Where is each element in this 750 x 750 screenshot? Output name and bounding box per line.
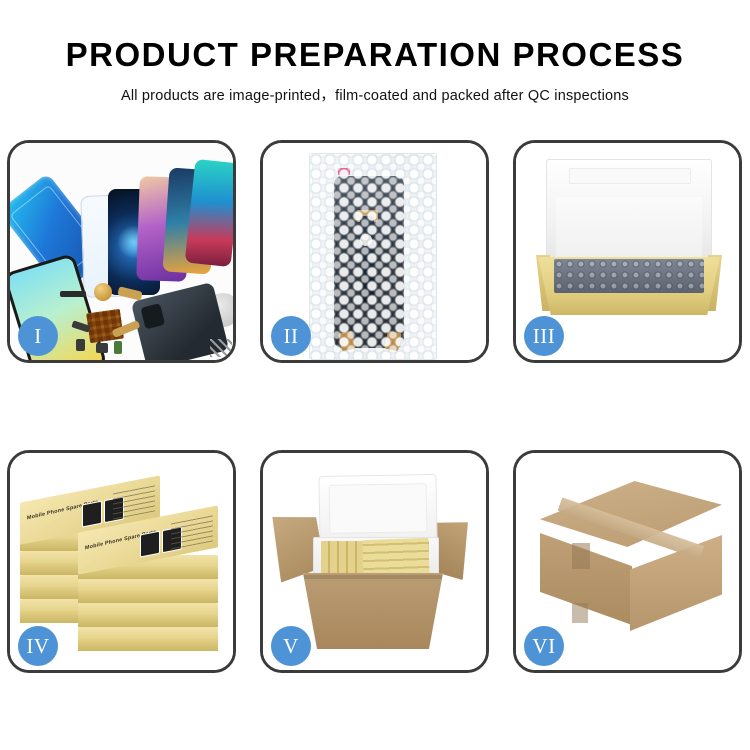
- carton-tab: [572, 603, 588, 623]
- bubble-texture: [310, 154, 436, 359]
- process-step-card-3: III: [513, 140, 742, 363]
- screen-thumb-icon: [82, 501, 102, 528]
- step-badge-6: VI: [524, 626, 564, 666]
- process-step-card-1: I: [7, 140, 236, 363]
- carton-tab: [572, 543, 590, 569]
- page-subtitle: All products are image-printed，film-coat…: [0, 84, 750, 105]
- stacked-box: [78, 579, 218, 603]
- process-step-card-5: V: [260, 450, 489, 673]
- speaker-module-icon: [94, 283, 112, 301]
- lid-crease: [569, 168, 691, 184]
- step-badge-1: I: [18, 316, 58, 356]
- spec-lines: [171, 513, 213, 549]
- step-badge-2: II: [271, 316, 311, 356]
- screws-icon: [210, 339, 232, 357]
- yellow-boxes-inside-icon: [362, 538, 429, 576]
- process-row-bottom: Mobile Phone Spare Parts Mob: [7, 450, 743, 673]
- header: PRODUCT PREPARATION PROCESS All products…: [0, 0, 750, 105]
- step-badge-4: IV: [18, 626, 58, 666]
- foam-insert-icon: [556, 197, 702, 263]
- foam-lid-icon: [318, 474, 437, 544]
- bubble-wrap-bag-icon: [309, 153, 437, 360]
- process-step-card-4: Mobile Phone Spare Parts Mob: [7, 450, 236, 673]
- stacked-box: [78, 603, 218, 627]
- bubble-wrapped-contents-icon: [554, 259, 704, 293]
- spec-lines: [113, 483, 155, 519]
- process-row-top: I: [7, 140, 743, 363]
- earpiece-strip-icon: [60, 291, 86, 297]
- process-step-card-6: VI: [513, 450, 742, 673]
- small-part-icon: [96, 343, 108, 353]
- screen-thumb-icon: [140, 531, 160, 558]
- page-title: PRODUCT PREPARATION PROCESS: [0, 38, 750, 73]
- carton-body-icon: [303, 573, 443, 649]
- battery-part-icon: [114, 341, 122, 354]
- stacked-box: [78, 627, 218, 651]
- step-badge-5: V: [271, 626, 311, 666]
- small-part-icon: [76, 339, 85, 351]
- process-steps-grid: I: [7, 140, 743, 673]
- step-badge-3: III: [524, 316, 564, 356]
- infographic-page: PRODUCT PREPARATION PROCESS All products…: [0, 0, 750, 750]
- screwdriver-bit-set-icon: [86, 309, 124, 343]
- process-step-card-2: II: [260, 140, 489, 363]
